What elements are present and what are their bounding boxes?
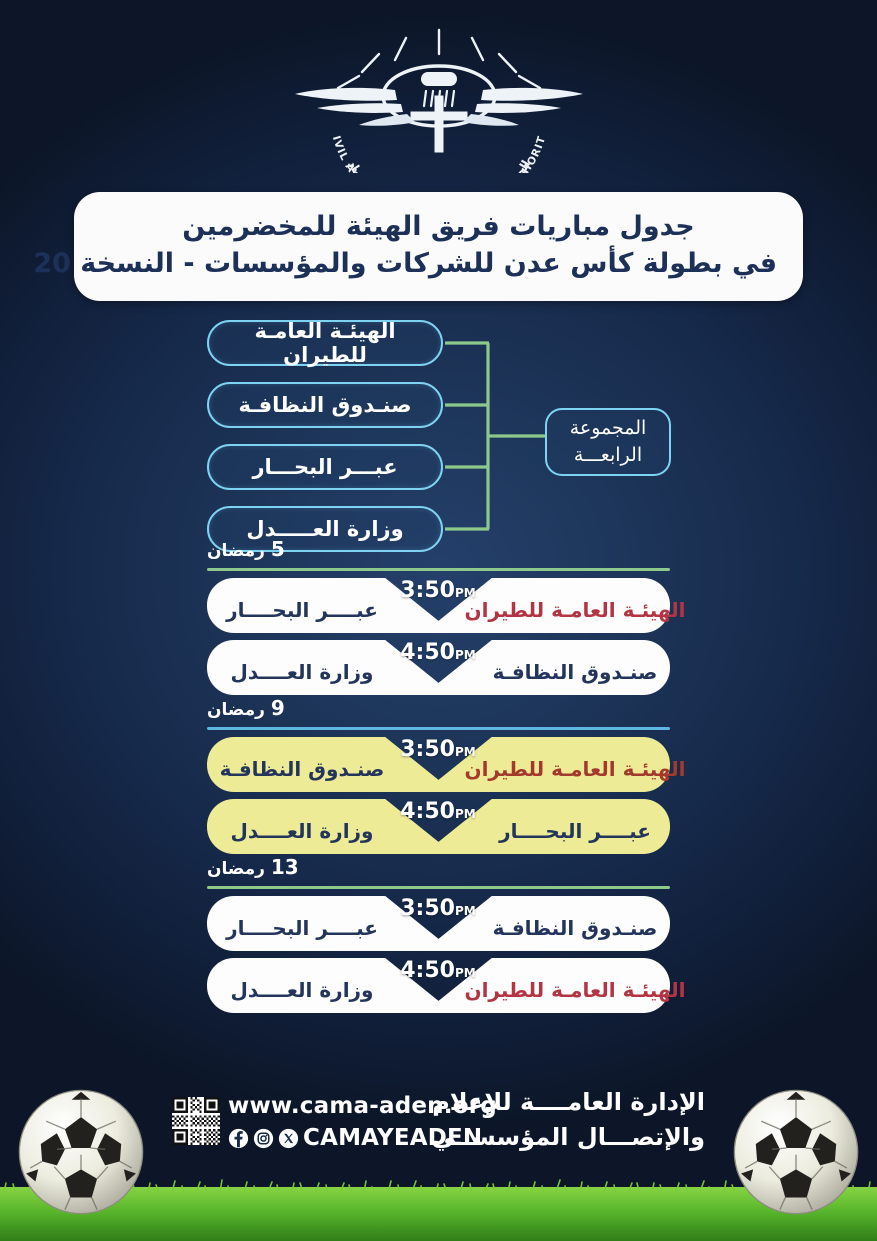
match-row: عبــــر البحــــاروزارة العــــدل4:50PM — [207, 799, 670, 854]
day-number: 5 — [271, 537, 285, 561]
department-line-1: الإدارة العامــــة للإعلام — [431, 1085, 705, 1120]
match-time-ampm: PM — [455, 745, 476, 759]
match-row: الهيئـة العامـة للطيرانوزارة العــــدل4:… — [207, 958, 670, 1013]
match-time: 4:50PM — [207, 642, 670, 666]
svg-text:الهيئة العامة للطيران المدني و: الهيئة العامة للطيران المدني والأرصاد — [344, 158, 532, 173]
group-bracket-section: الهيئـة العامـة للطيران صنـدوق النظافـة … — [0, 316, 877, 566]
day-month: رمضان — [207, 541, 265, 561]
day-divider-rule — [207, 727, 670, 730]
match-time-value: 3:50 — [400, 737, 455, 762]
day-block: 5 رمضانالهيئـة العامـة للطيرانعبــــر ال… — [0, 536, 877, 695]
match-time-ampm: PM — [455, 904, 476, 918]
match-time-ampm: PM — [455, 586, 476, 600]
match-row: صنـدوق النظافـةوزارة العــــدل4:50PM — [207, 640, 670, 695]
match-time-value: 4:50 — [400, 958, 455, 983]
civil-aviation-meteorology-authority-logo: الهيئة العامة للطيران المدني والأرصاد CI… — [289, 28, 589, 173]
day-number: 9 — [271, 696, 285, 720]
title-line-1: جدول مباريات فريق الهيئة للمخضرمين — [100, 208, 777, 245]
match-time: 3:50PM — [207, 898, 670, 922]
match-time-ampm: PM — [455, 807, 476, 821]
day-block: 13 رمضانصنـدوق النظافـةعبــــر البحــــا… — [0, 854, 877, 1013]
match-time-value: 4:50 — [400, 640, 455, 665]
day-header: 13 رمضان — [0, 854, 877, 884]
logo-area: الهيئة العامة للطيران المدني والأرصاد CI… — [0, 28, 877, 173]
x-twitter-icon[interactable] — [278, 1128, 299, 1149]
poster-root: الهيئة العامة للطيران المدني والأرصاد CI… — [0, 0, 877, 1241]
group-label-line-2: الرابعـــة — [574, 442, 642, 469]
match-time-ampm: PM — [455, 966, 476, 980]
department-name: الإدارة العامــــة للإعلام والإتصـــال ا… — [431, 1085, 705, 1155]
group-label-line-1: المجموعة — [570, 415, 647, 442]
match-time: 3:50PM — [207, 739, 670, 763]
title-line-2: في بطولة كأس عدن للشركات والمؤسسات - الن… — [100, 245, 777, 282]
schedule-section: 5 رمضانالهيئـة العامـة للطيرانعبــــر ال… — [0, 536, 877, 1013]
match-time-value: 3:50 — [400, 896, 455, 921]
instagram-icon[interactable] — [253, 1128, 274, 1149]
match-time: 4:50PM — [207, 801, 670, 825]
group-label-box: المجموعة الرابعـــة — [545, 408, 671, 476]
group-team-chip: الهيئـة العامـة للطيران — [207, 320, 443, 366]
day-header: 5 رمضان — [0, 536, 877, 566]
match-time-ampm: PM — [455, 648, 476, 662]
match-time-value: 4:50 — [400, 799, 455, 824]
day-date-label: 13 رمضان — [207, 854, 670, 882]
match-row: صنـدوق النظافـةعبــــر البحــــار3:50PM — [207, 896, 670, 951]
day-number: 13 — [271, 855, 299, 879]
match-row: الهيئـة العامـة للطيرانصنـدوق النظافـة3:… — [207, 737, 670, 792]
department-line-2: والإتصـــال المؤسســي — [431, 1120, 705, 1155]
football-right — [729, 1085, 863, 1219]
day-divider-rule — [207, 886, 670, 889]
group-team-chip: عبـــر البحـــار — [207, 444, 443, 490]
title-card: جدول مباريات فريق الهيئة للمخضرمين في بط… — [74, 192, 803, 301]
day-date-label: 5 رمضان — [207, 536, 670, 564]
football-left — [14, 1085, 148, 1219]
bracket-connector-lines — [443, 316, 553, 566]
match-time: 4:50PM — [207, 960, 670, 984]
day-header: 9 رمضان — [0, 695, 877, 725]
group-team-chip: صنـدوق النظافـة — [207, 382, 443, 428]
match-time: 3:50PM — [207, 580, 670, 604]
facebook-icon[interactable] — [228, 1128, 249, 1149]
match-time-value: 3:50 — [400, 578, 455, 603]
day-date-label: 9 رمضان — [207, 695, 670, 723]
day-month: رمضان — [207, 859, 265, 879]
match-row: الهيئـة العامـة للطيرانعبــــر البحــــا… — [207, 578, 670, 633]
day-block: 9 رمضانالهيئـة العامـة للطيرانصنـدوق الن… — [0, 695, 877, 854]
day-divider-rule — [207, 568, 670, 571]
day-month: رمضان — [207, 700, 265, 720]
qr-code[interactable] — [172, 1097, 220, 1145]
